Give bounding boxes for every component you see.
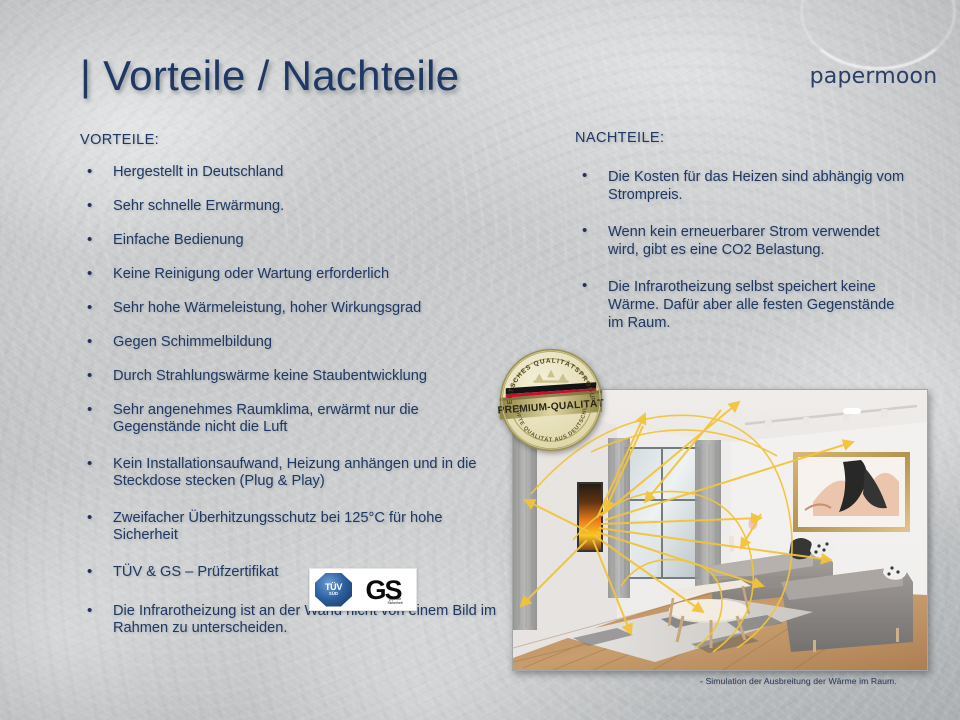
- list-item: Gegen Schimmelbildung: [80, 334, 505, 351]
- tuv-sub-label: SÜD: [329, 591, 338, 596]
- list-item: Kein Installationsaufwand, Heizung anhän…: [80, 456, 505, 490]
- list-item: Sehr hohe Wärmeleistung, hoher Wirkungsg…: [80, 300, 505, 317]
- tuv-sued-icon: TÜV SÜD: [315, 573, 352, 607]
- moon-arc-icon: [800, 0, 956, 70]
- page-title: | Vorteile / Nachteile: [80, 52, 459, 100]
- list-item: Die Infrarotheizung ist an der Wand nich…: [80, 603, 505, 637]
- nachteile-heading: NACHTEILE:: [575, 130, 664, 146]
- papermoon-logo: papermoon: [806, 64, 941, 89]
- photo-caption: - Simulation der Ausbreitung der Wärme i…: [700, 676, 940, 686]
- list-item: Einfache Bedienung: [80, 232, 505, 249]
- list-item: Sehr schnelle Erwärmung.: [80, 198, 505, 215]
- gs-mark-icon: GS geprüfte Sicherheit: [355, 573, 411, 607]
- tuv-label: TÜV: [325, 583, 342, 591]
- list-item: Wenn kein erneuerbarer Strom verwendet w…: [575, 223, 905, 259]
- list-item: Die Infrarotheizung selbst speichert kei…: [575, 278, 905, 332]
- list-item: Keine Reinigung oder Wartung erforderlic…: [80, 266, 505, 283]
- list-item: Zweifacher Überhitzungsschutz bei 125°C …: [80, 510, 505, 544]
- gs-sub-label: geprüfte Sicherheit: [382, 597, 408, 605]
- tuv-gs-certificate-badge: TÜV SÜD GS geprüfte Sicherheit: [309, 568, 417, 611]
- list-item-tuev: TÜV & GS – Prüfzertifikat: [80, 564, 505, 581]
- list-item: Sehr angenehmes Raumklima, erwärmt nur d…: [80, 402, 505, 436]
- slide-canvas: papermoon | Vorteile / Nachteile VORTEIL…: [0, 0, 960, 720]
- vorteile-list: Hergestellt in Deutschland Sehr schnelle…: [80, 164, 505, 654]
- list-item: Durch Strahlungswärme keine Staubentwick…: [80, 368, 505, 385]
- vorteile-heading: VORTEILE:: [80, 132, 159, 148]
- nachteile-list: Die Kosten für das Heizen sind abhängig …: [575, 168, 905, 351]
- list-item: Die Kosten für das Heizen sind abhängig …: [575, 168, 905, 204]
- list-item: Hergestellt in Deutschland: [80, 164, 505, 181]
- premium-quality-seal: PREMIUM-QUALITÄT DEUTSCHES QUALITÄTSPROD…: [492, 341, 610, 459]
